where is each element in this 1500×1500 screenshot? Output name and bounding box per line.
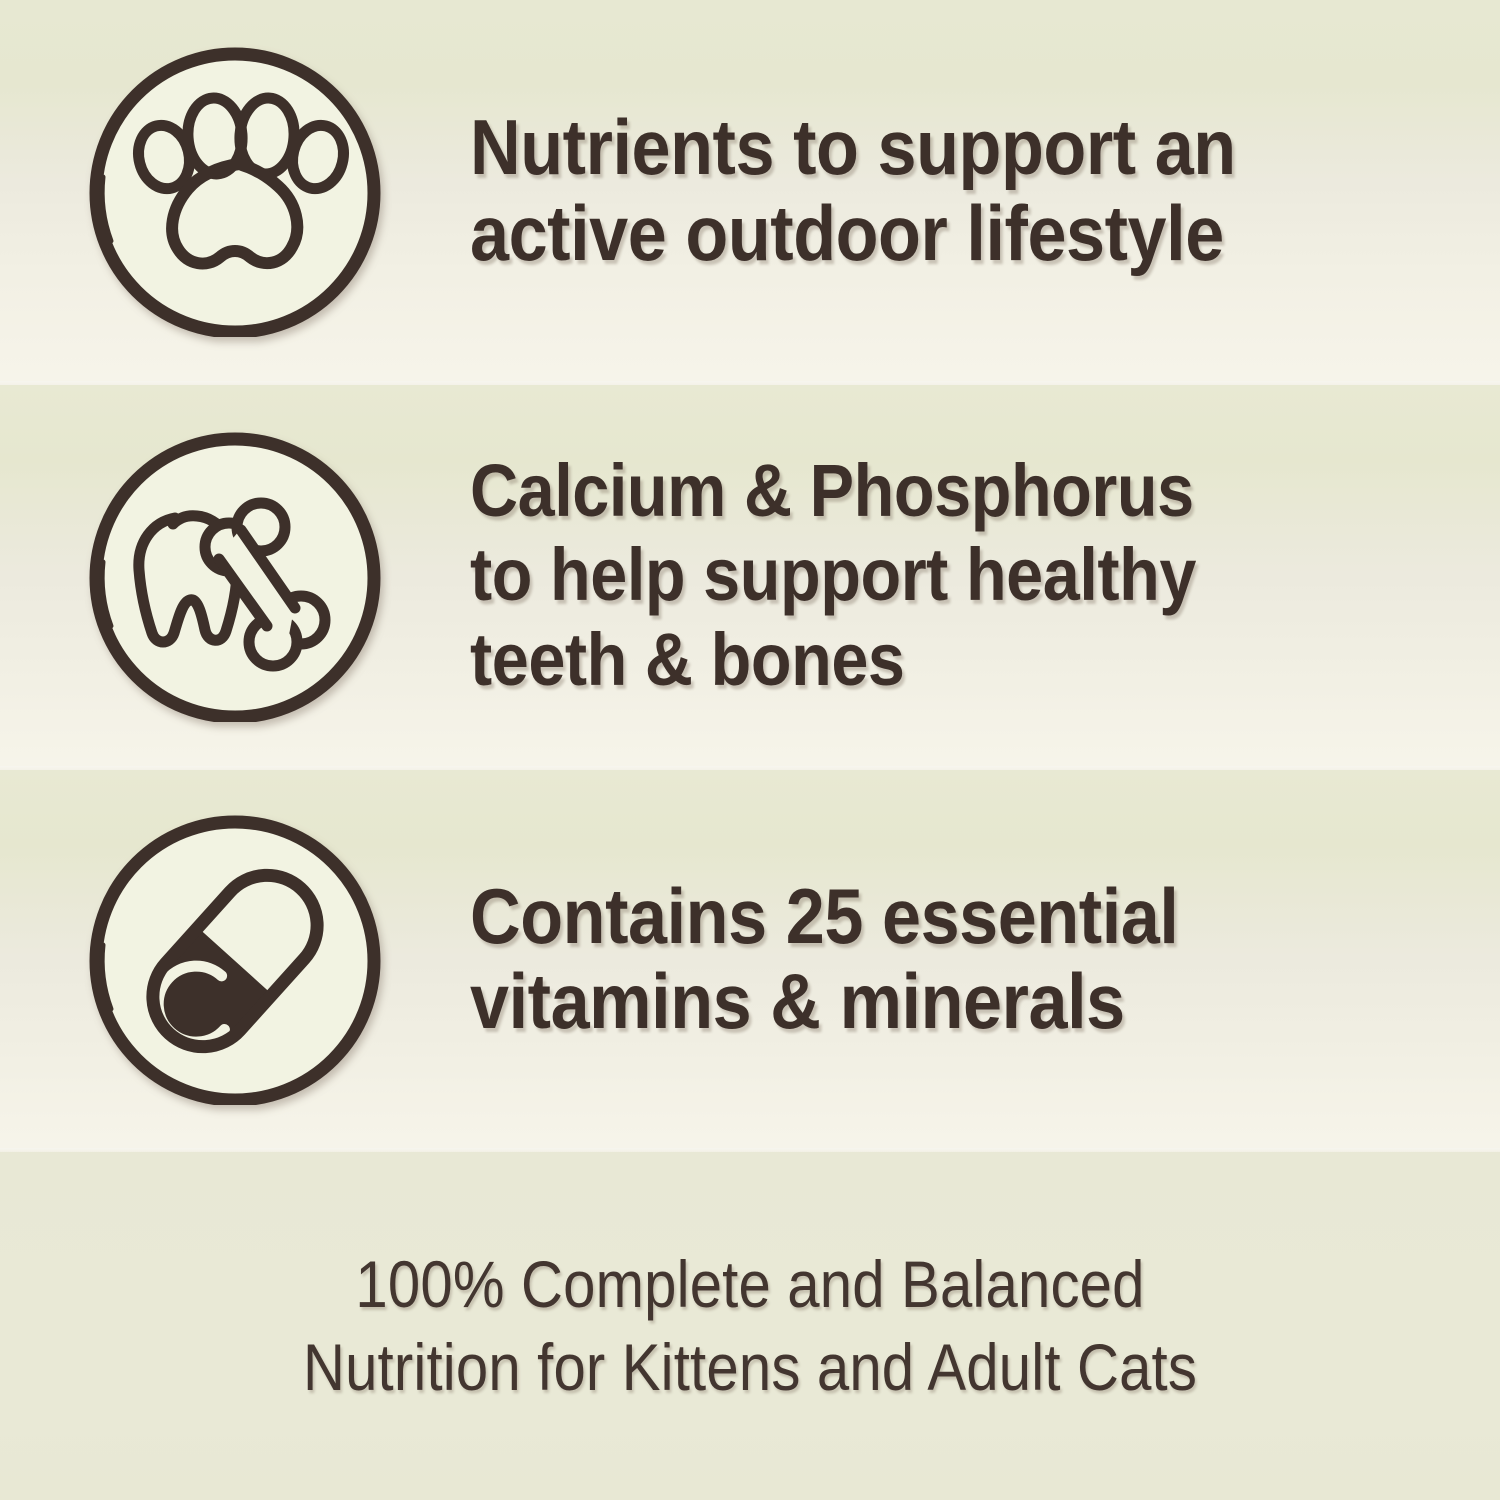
feature-headline-3: Contains 25 essential vitamins & mineral… (470, 874, 1334, 1044)
infographic-page: Nutrients to support an active outdoor l… (0, 0, 1500, 1500)
footer-tagline-line: Nutrition for Kittens and Adult Cats (303, 1330, 1197, 1404)
footer-section: 100% Complete and Balanced Nutrition for… (0, 1152, 1500, 1500)
badge-circle-1 (89, 45, 381, 337)
feature-icon-container-2 (0, 430, 470, 722)
feature-icon-container-1 (0, 45, 470, 337)
feature-headline-line: teeth & bones (470, 618, 905, 701)
feature-headline-line: Calcium & Phosphorus (470, 449, 1194, 532)
feature-text-container-1: Nutrients to support an active outdoor l… (470, 105, 1500, 275)
footer-tagline-line: 100% Complete and Balanced (355, 1247, 1144, 1321)
feature-row-calcium: Calcium & Phosphorus to help support hea… (0, 385, 1500, 766)
feature-headline-line: to help support healthy (470, 533, 1196, 616)
feature-headline-line: vitamins & minerals (470, 957, 1125, 1045)
feature-headline-line: Contains 25 essential (470, 872, 1178, 960)
feature-row-vitamins: Contains 25 essential vitamins & mineral… (0, 770, 1500, 1148)
feature-headline-line: Nutrients to support an (470, 103, 1236, 191)
feature-headline-line: active outdoor lifestyle (470, 189, 1224, 277)
feature-text-container-2: Calcium & Phosphorus to help support hea… (470, 449, 1500, 702)
paw-print-icon (89, 45, 381, 337)
feature-icon-container-3 (0, 813, 470, 1105)
feature-headline-2: Calcium & Phosphorus to help support hea… (470, 449, 1334, 702)
badge-circle-3 (89, 813, 381, 1105)
badge-circle-2 (89, 430, 381, 722)
tooth-and-bone-icon (89, 430, 381, 722)
footer-tagline: 100% Complete and Balanced Nutrition for… (303, 1243, 1197, 1409)
feature-text-container-3: Contains 25 essential vitamins & mineral… (470, 874, 1500, 1044)
feature-headline-1: Nutrients to support an active outdoor l… (470, 105, 1334, 275)
feature-row-nutrients: Nutrients to support an active outdoor l… (0, 0, 1500, 381)
capsule-pill-icon (89, 813, 381, 1105)
